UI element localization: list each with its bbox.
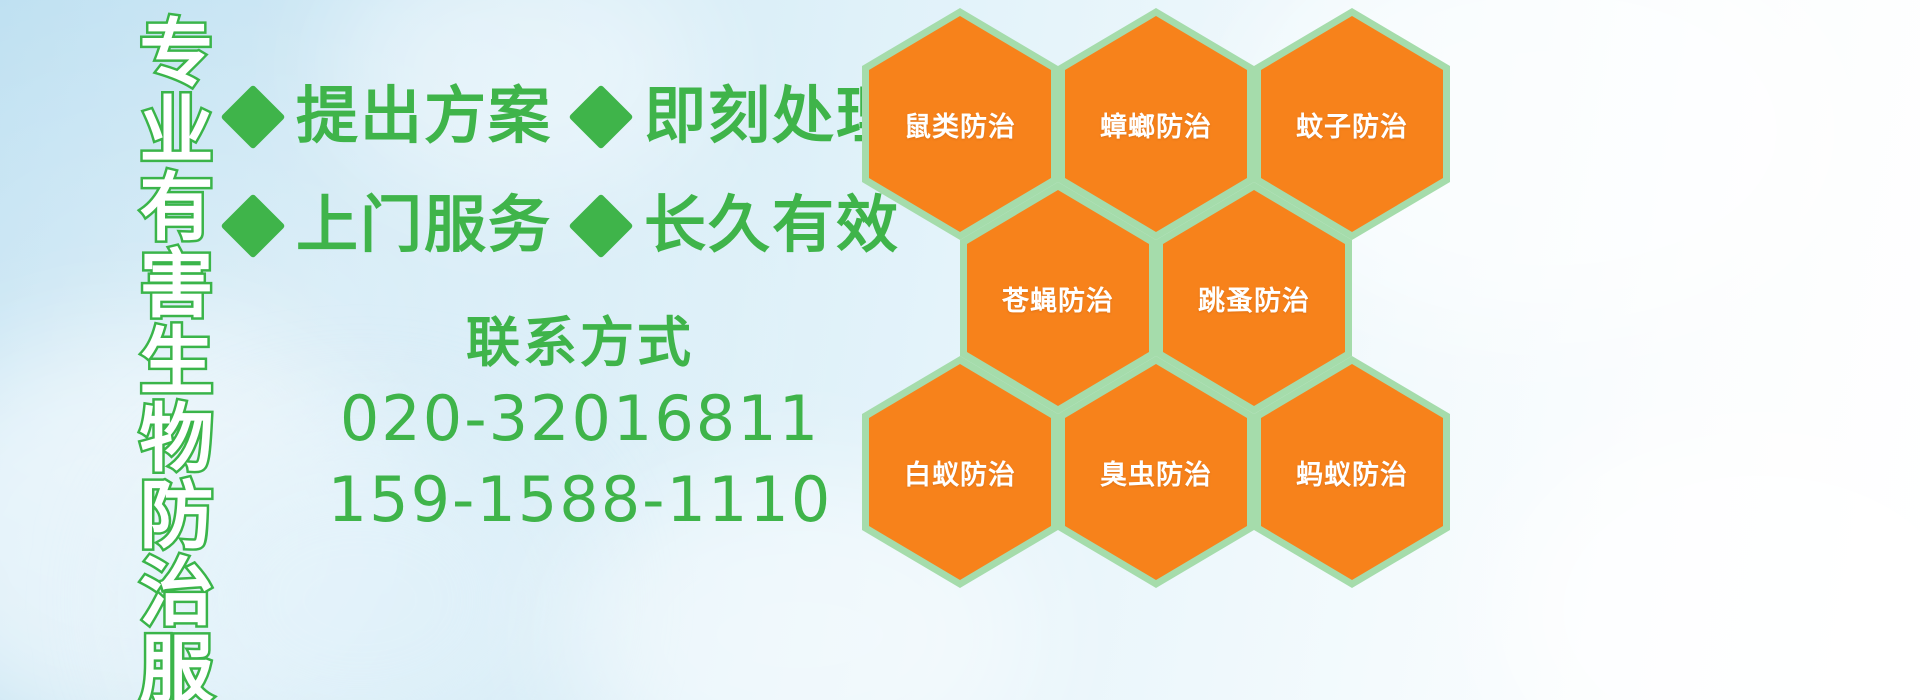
hex-label: 鼠类防治 xyxy=(904,105,1016,144)
hex-label: 蚂蚁防治 xyxy=(1296,453,1408,492)
hex-inner: 臭虫防治 xyxy=(1065,364,1247,580)
feature-row-2: 上门服务 长久有效 xyxy=(230,195,926,257)
diamond-bullet-icon xyxy=(568,193,633,258)
hex-label: 白蚁防治 xyxy=(904,453,1016,492)
phone-number-landline[interactable]: 020-32016811 xyxy=(300,378,860,460)
contact-block: 联系方式 020-32016811 159-1588-1110 xyxy=(300,310,860,541)
hex-inner: 蟑螂防治 xyxy=(1065,16,1247,232)
service-honeycomb: 鼠类防治 蟑螂防治 蚊子防治 苍蝇防治 跳蚤防治 白蚁防治 xyxy=(862,0,1462,700)
hex-label: 蟑螂防治 xyxy=(1100,105,1212,144)
background-haze-blob xyxy=(1500,420,1920,700)
hex-inner: 苍蝇防治 xyxy=(967,190,1149,406)
hex-label: 臭虫防治 xyxy=(1100,453,1212,492)
promo-banner: 专业有害生物防治服务 提出方案 即刻处理 上门服务 长久有效 联系方式 020-… xyxy=(0,0,1920,700)
diamond-bullet-icon xyxy=(220,84,285,149)
hex-inner: 跳蚤防治 xyxy=(1163,190,1345,406)
hex-label: 苍蝇防治 xyxy=(1002,279,1114,318)
feature-row-1: 提出方案 即刻处理 xyxy=(230,86,926,148)
hex-inner: 蚂蚁防治 xyxy=(1261,364,1443,580)
feature-item-propose-plan: 提出方案 xyxy=(230,86,578,148)
feature-label: 上门服务 xyxy=(296,195,552,257)
diamond-bullet-icon xyxy=(220,193,285,258)
hex-inner: 蚊子防治 xyxy=(1261,16,1443,232)
contact-heading: 联系方式 xyxy=(300,310,860,378)
feature-label: 提出方案 xyxy=(296,86,552,148)
hex-inner: 白蚁防治 xyxy=(869,364,1051,580)
vertical-headline: 专业有害生物防治服务 xyxy=(103,14,207,654)
diamond-bullet-icon xyxy=(568,84,633,149)
hex-inner: 鼠类防治 xyxy=(869,16,1051,232)
phone-number-mobile[interactable]: 159-1588-1110 xyxy=(300,459,860,541)
feature-item-door-to-door-service: 上门服务 xyxy=(230,195,578,257)
hex-label: 跳蚤防治 xyxy=(1198,279,1310,318)
hex-label: 蚊子防治 xyxy=(1296,105,1408,144)
